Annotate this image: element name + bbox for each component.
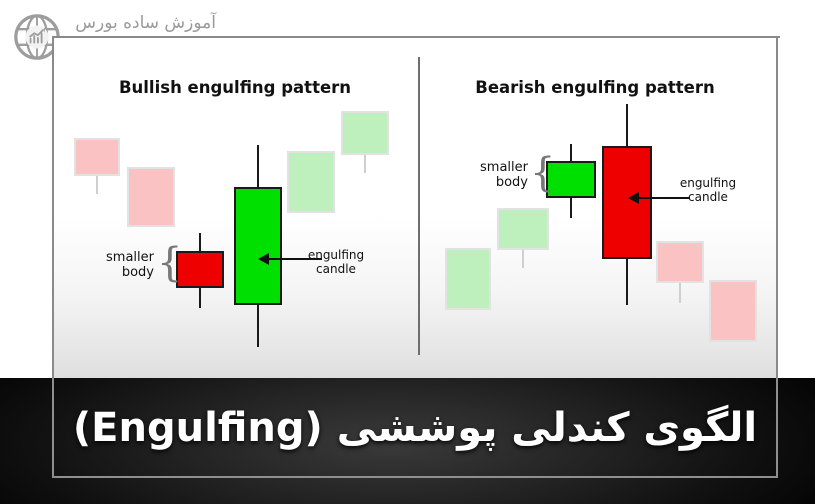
candle-upper-wick — [626, 104, 628, 149]
candle-lower-wick — [364, 152, 366, 173]
engulfing-candle-label-bullish: engulfing candle — [288, 248, 384, 276]
engulfing-line2: candle — [288, 262, 384, 276]
candle-lower-wick — [96, 173, 98, 194]
smaller-body-line1: smaller — [472, 160, 528, 175]
candle-body — [445, 248, 491, 310]
banner-title-text: الگوی کندلی پوششی (Engulfing) — [52, 392, 778, 464]
engulfing-arrow-head-bullish — [258, 253, 269, 265]
candle-body — [341, 111, 389, 155]
candle-ghost-bearish-2 — [709, 280, 757, 342]
smaller-body-line2: body — [98, 265, 154, 280]
smaller-body-label-bearish: smaller body — [472, 160, 528, 190]
engulfing-arrow-line-bullish — [268, 258, 322, 260]
candle-body — [602, 146, 652, 259]
chart-title-bullish: Bullish engulfing pattern — [60, 78, 410, 97]
candle-engulfing-bullish — [234, 145, 282, 347]
smaller-body-line1: smaller — [98, 250, 154, 265]
candle-ghost-bullish-1 — [287, 151, 335, 213]
candle-lower-wick — [257, 302, 259, 347]
candle-ghost-bullish-2 — [497, 208, 549, 268]
candle-body — [176, 251, 224, 288]
candle-body — [656, 241, 704, 283]
candle-ghost-bearish-1 — [656, 241, 704, 303]
candle-ghost-bearish-2 — [127, 167, 175, 227]
poster-canvas: آموزش ساده بورس www.Amoozesh-Boors.com B… — [0, 0, 815, 504]
candle-lower-wick — [626, 256, 628, 305]
candle-lower-wick — [199, 285, 201, 308]
smaller-body-line2: body — [472, 175, 528, 190]
candle-ghost-bullish-1 — [445, 248, 491, 310]
candle-body — [127, 167, 175, 227]
engulfing-line1: engulfing — [660, 176, 756, 190]
candle-body — [709, 280, 757, 342]
candle-ghost-bullish-2 — [341, 111, 389, 173]
candle-engulfing-bearish — [602, 104, 652, 305]
chart-title-bearish: Bearish engulfing pattern — [420, 78, 770, 97]
brand-name-fa: آموزش ساده بورس — [66, 12, 216, 34]
candle-ghost-bearish-1 — [74, 138, 120, 194]
engulfing-candle-label-bearish: engulfing candle — [660, 176, 756, 204]
candle-lower-wick — [522, 247, 524, 268]
panel-divider — [418, 57, 420, 355]
candle-body — [287, 151, 335, 213]
candle-lower-wick — [679, 280, 681, 303]
engulfing-arrow-line-bearish — [638, 197, 690, 199]
smaller-body-brace-bullish: { — [157, 243, 182, 283]
smaller-body-brace-bearish: { — [530, 153, 555, 193]
candle-smaller-body-bearish — [176, 233, 224, 308]
engulfing-arrow-head-bearish — [628, 192, 639, 204]
smaller-body-label-bullish: smaller body — [98, 250, 154, 280]
candle-body — [234, 187, 282, 305]
candle-lower-wick — [570, 195, 572, 218]
candle-body — [497, 208, 549, 250]
candle-body — [74, 138, 120, 176]
candle-upper-wick — [257, 145, 259, 190]
